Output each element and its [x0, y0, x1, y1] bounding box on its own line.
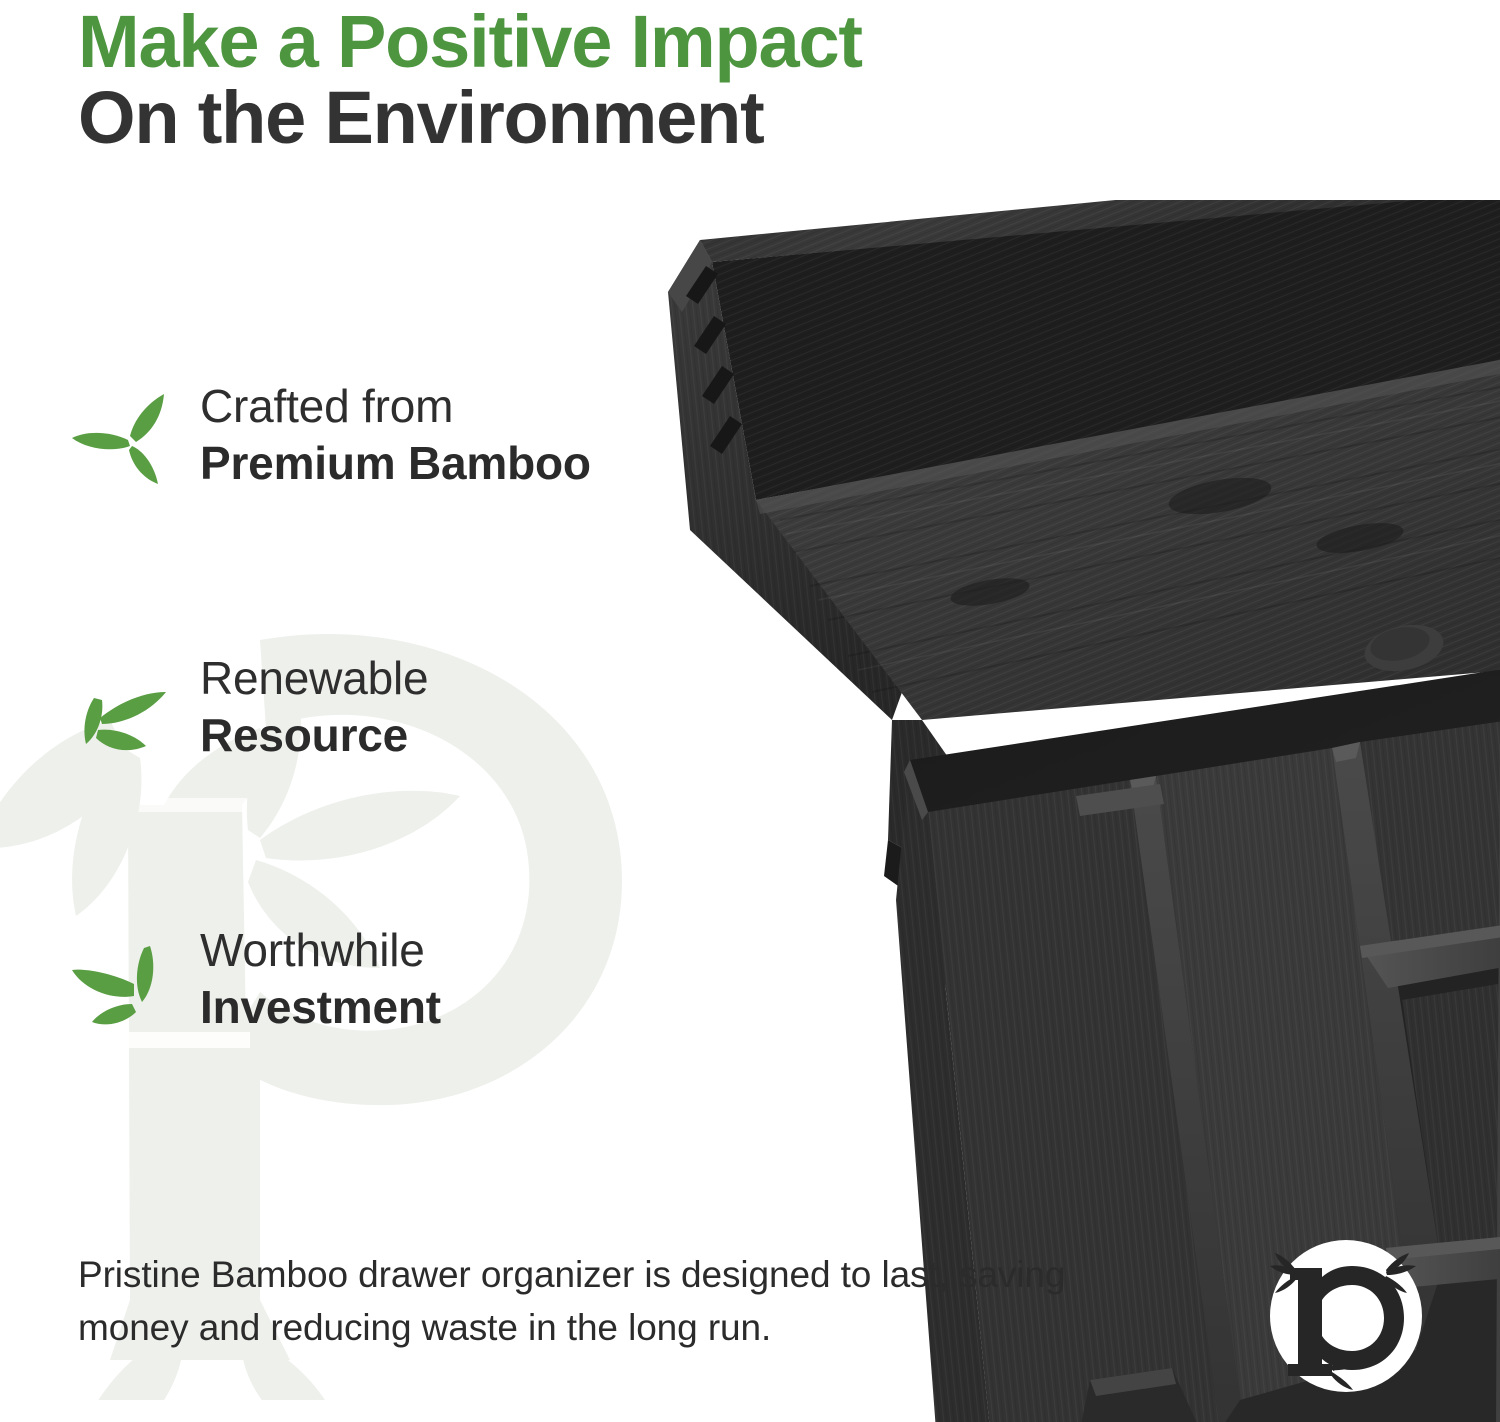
headline-secondary: On the Environment [78, 78, 862, 158]
feature-line-2: Investment [200, 978, 441, 1036]
feature-line-2: Resource [200, 706, 428, 764]
headline-primary: Make a Positive Impact [78, 2, 862, 82]
bamboo-leaf-icon [72, 934, 182, 1039]
feature-item-renewable-resource: Renewable Resource [72, 650, 752, 770]
feature-text: Renewable Resource [182, 650, 428, 764]
bamboo-leaf-icon [72, 662, 182, 767]
feature-line-1: Crafted from [200, 378, 591, 434]
feature-text: Worthwhile Investment [182, 922, 441, 1036]
product-description: Pristine Bamboo drawer organizer is desi… [78, 1248, 1088, 1354]
page-title: Make a Positive Impact On the Environmen… [78, 2, 862, 158]
feature-item-premium-bamboo: Crafted from Premium Bamboo [72, 378, 752, 498]
pristine-bamboo-logo [1266, 1236, 1426, 1396]
feature-list: Crafted from Premium Bamboo Renewable Re… [72, 378, 752, 1042]
feature-item-worthwhile-investment: Worthwhile Investment [72, 922, 752, 1042]
product-infographic: Make a Positive Impact On the Environmen… [0, 0, 1500, 1422]
feature-line-1: Worthwhile [200, 922, 441, 978]
bamboo-leaf-icon [72, 390, 182, 495]
feature-line-2: Premium Bamboo [200, 434, 591, 492]
feature-text: Crafted from Premium Bamboo [182, 378, 591, 492]
feature-line-1: Renewable [200, 650, 428, 706]
